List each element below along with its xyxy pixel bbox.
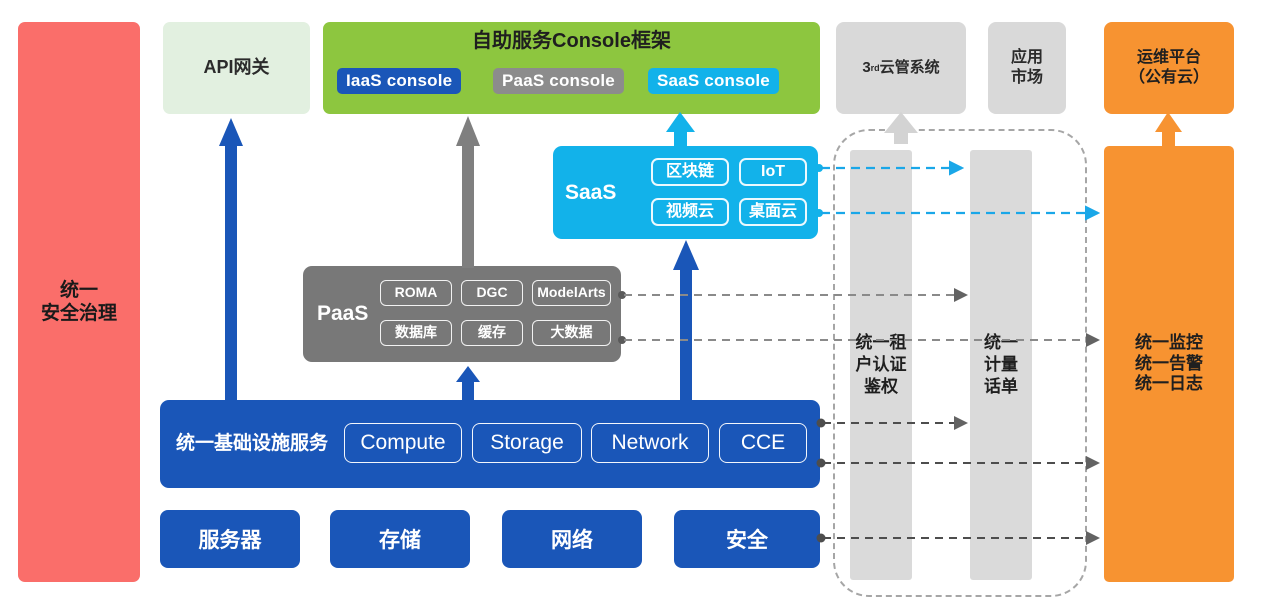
paas-console-chip[interactable]: PaaS console	[493, 68, 624, 94]
arrow-infra-to-paas	[456, 366, 480, 402]
paas-label: PaaS	[317, 266, 368, 362]
arrow-infra-to-saas	[673, 240, 699, 402]
hardware-box-server[interactable]: 服务器	[160, 510, 300, 568]
security-governance-column[interactable]: 统一 安全治理	[18, 22, 140, 582]
unified-infrastructure-bar[interactable]: 统一基础设施服务 Compute Storage Network CCE	[160, 400, 820, 488]
infrastructure-label: 统一基础设施服务	[176, 400, 328, 488]
third-party-label: 云管系统	[880, 59, 940, 77]
iaas-console-chip[interactable]: IaaS console	[337, 68, 461, 94]
paas-chip-modelarts[interactable]: ModelArts	[532, 280, 611, 306]
infra-chip-storage[interactable]: Storage	[472, 423, 582, 463]
hardware-box-network[interactable]: 网络	[502, 510, 642, 568]
metering-billing-column[interactable]: 统一 计量 话单	[970, 150, 1032, 580]
arrow-saas-to-saas-console	[666, 112, 695, 148]
infra-chip-cce[interactable]: CCE	[719, 423, 807, 463]
third-party-superscript: rd	[871, 63, 880, 74]
console-framework-title: 自助服务Console框架	[323, 29, 820, 53]
infra-chip-network[interactable]: Network	[591, 423, 709, 463]
paas-chip-roma[interactable]: ROMA	[380, 280, 452, 306]
arrow-ops-column-to-ops-platform	[1155, 112, 1182, 148]
console-framework-box[interactable]: 自助服务Console框架 IaaS console PaaS console …	[323, 22, 820, 114]
paas-chip-dgc[interactable]: DGC	[461, 280, 523, 306]
hardware-box-storage[interactable]: 存储	[330, 510, 470, 568]
saas-chip-blockchain[interactable]: 区块链	[651, 158, 729, 186]
architecture-diagram: 统一 安全治理 API网关 自助服务Console框架 IaaS console…	[0, 0, 1265, 605]
hardware-box-security[interactable]: 安全	[674, 510, 820, 568]
paas-block[interactable]: PaaS ROMA DGC ModelArts 数据库 缓存 大数据	[303, 266, 621, 362]
infra-chip-compute[interactable]: Compute	[344, 423, 462, 463]
paas-chip-database[interactable]: 数据库	[380, 320, 452, 346]
paas-chip-bigdata[interactable]: 大数据	[532, 320, 611, 346]
tenant-auth-column[interactable]: 统一租 户认证 鉴权	[850, 150, 912, 580]
saas-chip-video-cloud[interactable]: 视频云	[651, 198, 729, 226]
paas-chip-cache[interactable]: 缓存	[461, 320, 523, 346]
third-party-prefix: 3	[862, 59, 870, 77]
ops-monitoring-column[interactable]: 统一监控 统一告警 统一日志	[1104, 146, 1234, 582]
app-market-box[interactable]: 应用 市场	[988, 22, 1066, 114]
arrow-infra-to-api-gateway	[219, 118, 243, 402]
arrow-paas-to-console	[456, 116, 480, 268]
saas-console-chip[interactable]: SaaS console	[648, 68, 779, 94]
saas-block[interactable]: SaaS 区块链 IoT 视频云 桌面云	[553, 146, 818, 239]
third-party-cloud-mgmt-box[interactable]: 3rd云管系统	[836, 22, 966, 114]
saas-label: SaaS	[565, 146, 616, 239]
api-gateway-box[interactable]: API网关	[163, 22, 310, 114]
saas-chip-iot[interactable]: IoT	[739, 158, 807, 186]
saas-chip-desktop-cloud[interactable]: 桌面云	[739, 198, 807, 226]
ops-platform-box[interactable]: 运维平台 （公有云）	[1104, 22, 1234, 114]
